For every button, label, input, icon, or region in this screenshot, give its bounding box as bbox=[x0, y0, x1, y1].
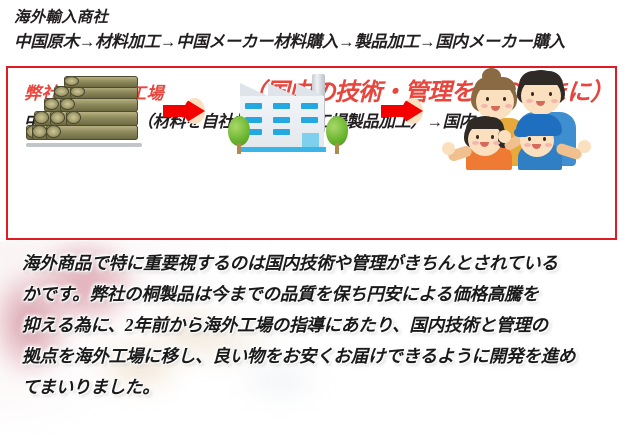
paragraph-line-3: 抑える為に、2年前から海外工場の指導にあたり、国内技術と管理の bbox=[22, 310, 622, 341]
flow-arrow-2 bbox=[372, 66, 434, 170]
paragraph-text: 海外商品で特に重要視するのは国内技術や管理がきちんとされている かです。弊社の桐… bbox=[22, 248, 622, 403]
flow-arrow-1 bbox=[154, 66, 216, 170]
bottom-paragraph-block: 海外商品で特に重要視するのは国内技術や管理がきちんとされている かです。弊社の桐… bbox=[0, 241, 640, 442]
family-icon bbox=[446, 68, 596, 168]
right-arrow-icon bbox=[381, 98, 423, 124]
factory-building-3 bbox=[296, 96, 324, 148]
right-arrow-icon bbox=[163, 98, 205, 124]
tree-icon-right bbox=[326, 116, 348, 154]
log-pile-shadow bbox=[26, 143, 142, 147]
factory-illustration bbox=[216, 66, 372, 170]
logs-illustration bbox=[14, 66, 154, 170]
tree-icon-left bbox=[228, 116, 250, 154]
factory-base bbox=[238, 147, 326, 152]
top-text-block: 海外輸入商社 中国原木→材料加工→中国メーカー材料購入→製品加工→国内メーカー購… bbox=[14, 6, 626, 54]
factory-building-2 bbox=[268, 96, 296, 148]
top-heading-importer: 海外輸入商社 bbox=[14, 6, 626, 29]
paragraph-line-5: てまいりました。 bbox=[22, 372, 622, 403]
paragraph-line-4: 拠点を海外工場に移し、良い物をお安くお届けできるように開発を進め bbox=[22, 341, 622, 372]
process-flow-illustrations bbox=[0, 66, 607, 170]
factory-icon bbox=[232, 72, 358, 158]
family-illustration bbox=[434, 66, 607, 170]
top-flow-description: 中国原木→材料加工→中国メーカー材料購入→製品加工→国内メーカー購入 bbox=[14, 29, 626, 54]
log-pile-icon bbox=[24, 75, 142, 149]
paragraph-line-2: かです。弊社の桐製品は今までの品質を保ち円安による価格高騰を bbox=[22, 279, 622, 310]
paragraph-line-1: 海外商品で特に重要視するのは国内技術や管理がきちんとされている bbox=[22, 248, 622, 279]
